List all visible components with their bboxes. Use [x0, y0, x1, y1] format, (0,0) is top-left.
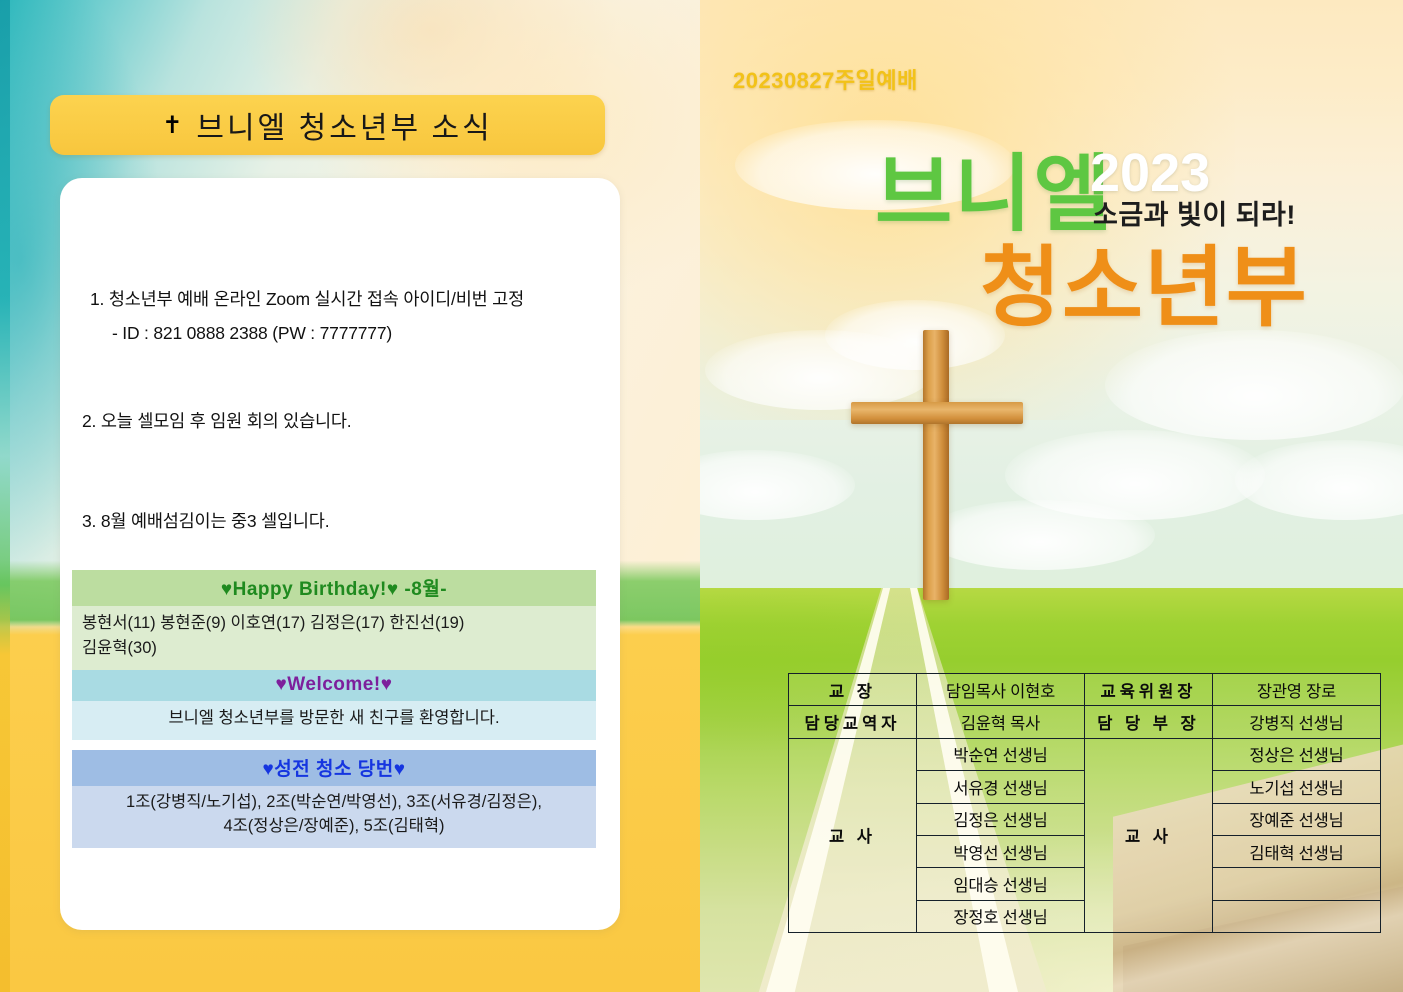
staff-roster-table: 교 장 담임목사 이현호 교육위원장 장관영 장로 담당교역자 김윤혁 목사 담…	[788, 673, 1381, 933]
staff-name: 김윤혁 목사	[917, 706, 1085, 738]
youth-group-logo: 브니엘 2023 소금과 빛이 되라! 청소년부	[865, 140, 1325, 350]
cross-horizontal-beam	[851, 402, 1023, 424]
staff-name: 장정호 선생님	[917, 900, 1085, 932]
logo-department: 청소년부	[980, 244, 1308, 332]
staff-name: 장예준 선생님	[1213, 803, 1381, 835]
logo-name: 브니엘	[875, 152, 1113, 236]
logo-slogan: 소금과 빛이 되라!	[1093, 202, 1296, 229]
notice-item-1-detail: - ID : 821 0888 2388 (PW : 7777777)	[112, 323, 632, 344]
table-row: 담당교역자 김윤혁 목사 담 당 부 장 강병직 선생님	[789, 706, 1381, 738]
table-row: 교 사 박순연 선생님 교 사 정상은 선생님	[789, 738, 1381, 770]
staff-role-label: 교 장	[789, 674, 917, 706]
wooden-cross-icon	[845, 330, 1035, 610]
news-banner-title: 브니엘 청소년부 소식	[196, 103, 492, 147]
staff-role-label: 담 당 부 장	[1085, 706, 1213, 738]
teacher-role-label-right: 교 사	[1085, 738, 1213, 932]
staff-name: 장관영 장로	[1213, 674, 1381, 706]
birthday-names-line-2: 김윤혁(30)	[82, 636, 586, 661]
staff-name-empty	[1213, 868, 1381, 900]
staff-name: 김태혁 선생님	[1213, 835, 1381, 867]
cleaning-duty-line-2: 4조(정상은/장예준), 5조(김태혁)	[82, 815, 586, 839]
staff-name: 박영선 선생님	[917, 835, 1085, 867]
staff-name: 박순연 선생님	[917, 738, 1085, 770]
notice-item-3: 3. 8월 예배섬김이는 중3 셀입니다.	[82, 508, 602, 533]
cleaning-duty-box: ♥성전 청소 당번♥ 1조(강병직/노기섭), 2조(박순연/박영선), 3조(…	[72, 750, 596, 848]
cleaning-duty-header: ♥성전 청소 당번♥	[72, 750, 596, 786]
notice-item-2: 2. 오늘 셀모임 후 임원 회의 있습니다.	[82, 408, 602, 433]
announcement-card: 1. 청소년부 예배 온라인 Zoom 실시간 접속 아이디/비번 고정 - I…	[60, 178, 620, 930]
staff-name: 김정은 선생님	[917, 803, 1085, 835]
staff-name: 노기섭 선생님	[1213, 771, 1381, 803]
staff-name: 서유경 선생님	[917, 771, 1085, 803]
cross-icon: ✝	[162, 111, 182, 140]
staff-name: 임대승 선생님	[917, 868, 1085, 900]
staff-role-label: 담당교역자	[789, 706, 917, 738]
birthday-box: ♥Happy Birthday!♥ -8월- 봉현서(11) 봉현준(9) 이호…	[72, 570, 596, 670]
table-row: 교 장 담임목사 이현호 교육위원장 장관영 장로	[789, 674, 1381, 706]
cleaning-duty-line-1: 1조(강병직/노기섭), 2조(박순연/박영선), 3조(서유경/김정은),	[82, 791, 586, 815]
staff-name: 강병직 선생님	[1213, 706, 1381, 738]
notice-item-1: 1. 청소년부 예배 온라인 Zoom 실시간 접속 아이디/비번 고정	[90, 286, 610, 311]
bulletin-page: 20230827주일예배 브니엘 2023 소금과 빛이 되라! 청소년부 ✝ …	[0, 0, 1403, 992]
birthday-box-header: ♥Happy Birthday!♥ -8월-	[72, 570, 596, 606]
staff-name-empty	[1213, 900, 1381, 932]
news-banner: ✝ 브니엘 청소년부 소식	[50, 95, 605, 155]
teacher-role-label-left: 교 사	[789, 738, 917, 932]
staff-name: 정상은 선생님	[1213, 738, 1381, 770]
welcome-box-body: 브니엘 청소년부를 방문한 새 친구를 환영합니다.	[72, 701, 596, 740]
cleaning-duty-body: 1조(강병직/노기섭), 2조(박순연/박영선), 3조(서유경/김정은), 4…	[72, 786, 596, 848]
staff-role-label: 교육위원장	[1085, 674, 1213, 706]
birthday-names-line-1: 봉현서(11) 봉현준(9) 이호연(17) 김정은(17) 한진선(19)	[82, 611, 586, 636]
logo-year: 2023	[1090, 146, 1210, 200]
birthday-box-body: 봉현서(11) 봉현준(9) 이호연(17) 김정은(17) 한진선(19) 김…	[72, 606, 596, 670]
left-edge-stripe	[0, 0, 10, 992]
service-date-label: 20230827주일예배	[733, 63, 918, 95]
cross-vertical-beam	[923, 330, 949, 600]
staff-name: 담임목사 이현호	[917, 674, 1085, 706]
welcome-box: ♥Welcome!♥ 브니엘 청소년부를 방문한 새 친구를 환영합니다.	[72, 670, 596, 740]
welcome-box-header: ♥Welcome!♥	[72, 670, 596, 701]
